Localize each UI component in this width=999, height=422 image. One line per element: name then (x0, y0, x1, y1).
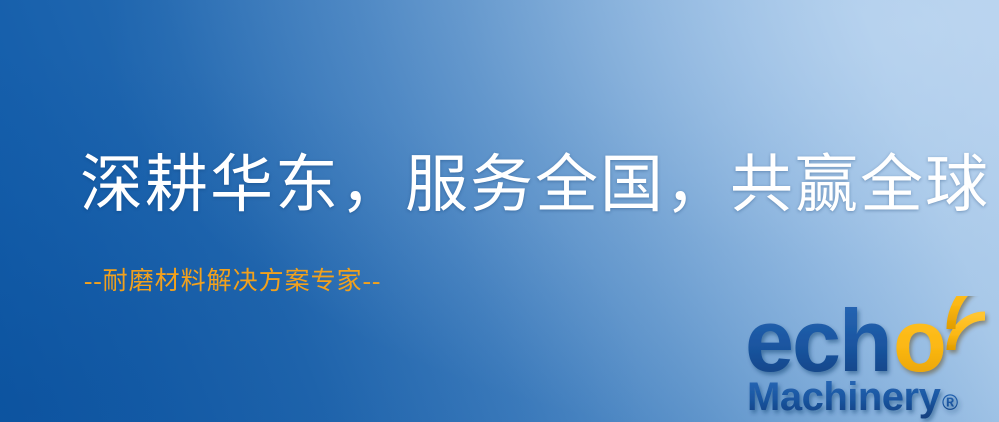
banner-headline: 深耕华东，服务全国，共赢全球 (80, 152, 990, 218)
promo-banner: 深耕华东，服务全国，共赢全球 --耐磨材料解决方案专家-- (0, 0, 999, 422)
svg-text:®: ® (942, 390, 958, 415)
banner-subtitle: --耐磨材料解决方案专家-- (84, 268, 381, 296)
echo-wave-icon (951, 296, 999, 350)
svg-text:Machinery: Machinery (747, 375, 942, 419)
logo-word-machinery: Machinery ® (747, 375, 958, 419)
echo-machinery-logo: ech o Machinery ® (745, 296, 999, 422)
